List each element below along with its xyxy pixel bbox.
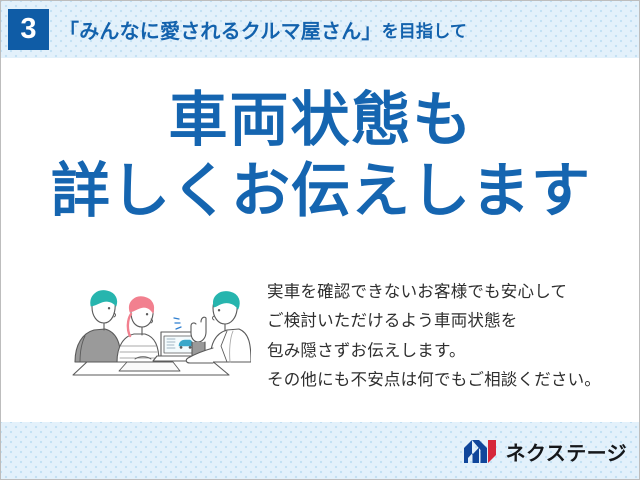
footer-band: ネクステージ [1,422,640,480]
header-band: 3 「みんなに愛されるクルマ屋さん」 を目指して [1,1,640,58]
headline-line-1: 車両状態も [1,90,640,150]
body-line-1: 実車を確認できないお客様でも安心して [267,278,627,307]
consultation-illustration [61,276,251,381]
headline-line-2: 詳しくお伝えします [1,161,640,221]
section-number-badge: 3 [8,9,49,50]
body-line-4: その他にも不安点は何でもご相談ください。 [267,366,627,395]
brand-name: ネクステージ [506,437,627,466]
header-title-tail: を目指して [382,17,468,42]
header-title: 「みんなに愛されるクルマ屋さん」 を目指して [59,1,467,58]
main-content: 車両状態も 詳しくお伝えします [1,58,640,422]
body-line-3: 包み隠さずお伝えします。 [267,337,627,366]
body-copy: 実車を確認できないお客様でも安心して ご検討いただけるよう車両状態を 包み隠さず… [267,278,627,395]
header-title-main: 「みんなに愛されるクルマ屋さん」 [59,15,382,44]
nextage-n-mark-icon [463,439,499,464]
brand-logo: ネクステージ [463,422,627,480]
body-line-2: ご検討いただけるよう車両状態を [267,307,627,336]
advertisement-page: 3 「みんなに愛されるクルマ屋さん」 を目指して 車両状態も 詳しくお伝えします [0,0,640,480]
male-customer-figure [75,291,121,362]
female-customer-figure [117,297,159,362]
page-title: 車両状態も 詳しくお伝えします [1,90,640,221]
